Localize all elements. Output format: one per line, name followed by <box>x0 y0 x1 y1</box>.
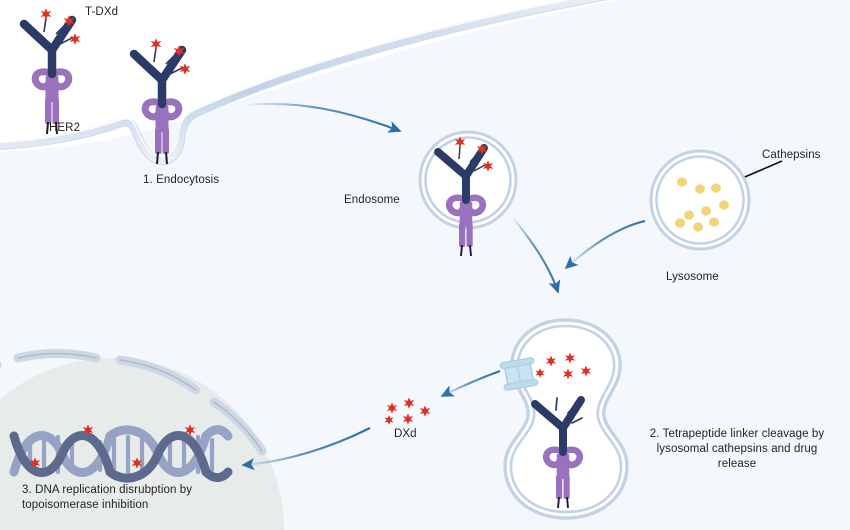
adc-free-extracellular <box>24 8 80 134</box>
antibody <box>134 50 182 104</box>
label-cathepsins: Cathepsins <box>762 148 821 163</box>
label-endocytosis: 1. Endocytosis <box>143 173 219 188</box>
label-her2: HER2 <box>49 121 80 136</box>
label-tdxd: T-DXd <box>85 5 118 20</box>
mechanism-of-action-diagram: T-DXd HER2 1. Endocytosis Endosome Cathe… <box>0 0 850 530</box>
label-endosome: Endosome <box>344 193 400 208</box>
lysosome-vesicle <box>651 151 749 249</box>
label-step3-dna-disruption: 3. DNA replication disrubption by topois… <box>22 483 252 513</box>
antibody <box>24 20 72 74</box>
label-lysosome: Lysosome <box>666 270 719 285</box>
label-dxd: DXd <box>394 427 417 442</box>
membrane-transporter-channel <box>500 357 538 390</box>
label-step2-linker-cleavage: 2. Tetrapeptide linker cleavage by lysos… <box>634 427 840 473</box>
